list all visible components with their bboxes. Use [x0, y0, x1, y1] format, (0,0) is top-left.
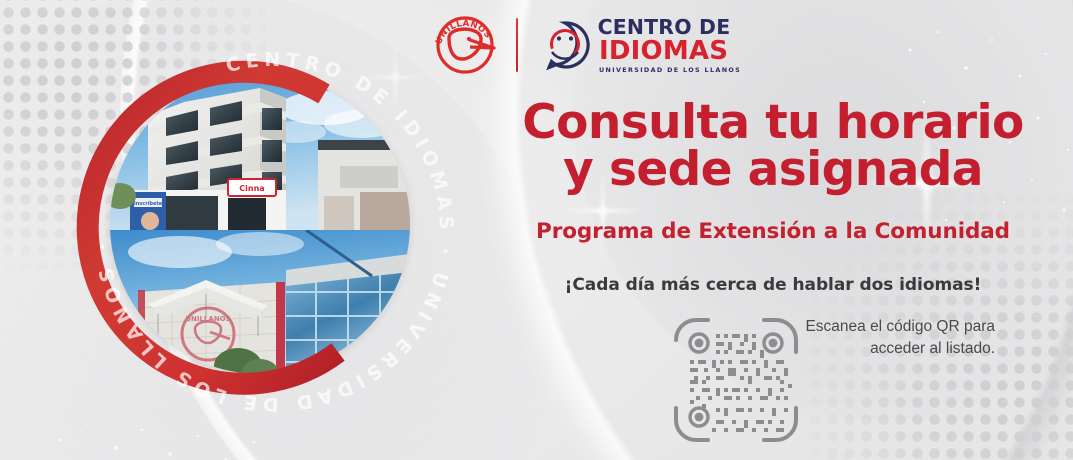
photo-collage: Cinna Inscríbete — [62, 52, 422, 412]
header-logos: UNILLANOS CENTRO DE IDIOMAS UNIVERSIDAD … — [430, 14, 741, 76]
centro-line3: UNIVERSIDAD DE LOS LLANOS — [599, 67, 741, 73]
centro-de-idiomas-logo: CENTRO DE IDIOMAS UNIVERSIDAD DE LOS LLA… — [540, 17, 741, 73]
unillanos-logo-icon: UNILLANOS — [430, 14, 500, 76]
circular-watermark-text: CENTRO DE IDIOMAS · UNIVERSIDAD DE LOS L… — [88, 46, 460, 418]
tagline: ¡Cada día más cerca de hablar dos idioma… — [513, 275, 1033, 295]
watermark-text: CENTRO DE IDIOMAS · UNIVERSIDAD DE LOS L… — [91, 49, 457, 415]
centro-idiomas-wordmark: CENTRO DE IDIOMAS UNIVERSIDAD DE LOS LLA… — [599, 17, 741, 73]
subtitle: Programa de Extensión a la Comunidad — [513, 219, 1033, 244]
logo-divider — [516, 18, 518, 72]
promo-banner: Cinna Inscríbete — [0, 0, 1073, 460]
headline-line-2: y sede asignada — [513, 147, 1033, 194]
unillanos-arc-text: UNILLANOS — [434, 19, 493, 46]
centro-idiomas-mark-icon — [540, 20, 590, 70]
page-title: Consulta tu horario y sede asignada — [513, 100, 1033, 193]
centro-line1: CENTRO DE — [598, 17, 743, 37]
svg-text:UNILLANOS: UNILLANOS — [434, 19, 493, 46]
centro-line2: IDIOMAS — [599, 38, 741, 64]
svg-text:CENTRO DE IDIOMAS · UNIVERSIDA: CENTRO DE IDIOMAS · UNIVERSIDAD DE LOS L… — [91, 49, 457, 415]
qr-hint-text: Escanea el código QR para acceder al lis… — [780, 316, 995, 360]
